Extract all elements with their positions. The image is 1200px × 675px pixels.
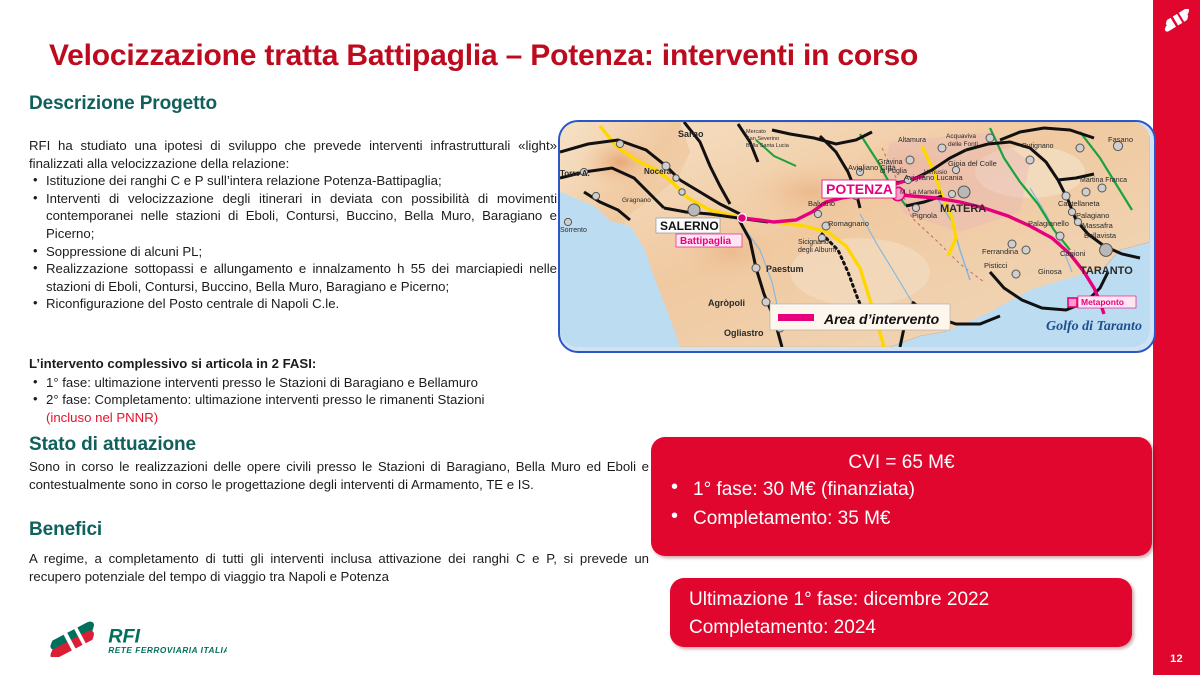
station-dot [592, 192, 599, 199]
legend-label: Area d’intervento [823, 311, 940, 327]
map-label: Martina Franca [1080, 177, 1127, 184]
descrizione-body: RFI ha studiato una ipotesi di sviluppo … [29, 137, 557, 313]
station-dot [906, 156, 914, 164]
svg-text:POTENZA: POTENZA [826, 181, 893, 197]
fasi-title: L’intervento complessivo si articola in … [29, 355, 569, 373]
stato-text: Sono in corso le realizzazioni delle ope… [29, 458, 649, 493]
station-battipaglia [738, 214, 747, 223]
map-layers: Sarno Mercato San Severino Bella Santa L… [560, 122, 1150, 347]
callout-dates: Ultimazione 1° fase: dicembre 2022 Compl… [670, 578, 1132, 647]
map-label: Massafra [1082, 221, 1114, 230]
map-label-battipaglia: Battipaglia [676, 234, 742, 247]
date-line-1: Ultimazione 1° fase: dicembre 2022 [670, 578, 1132, 614]
station-dot [1056, 232, 1064, 240]
descrizione-bullet-list: Istituzione dei ranghi C e P sull’intera… [29, 172, 557, 313]
stato-body: Sono in corso le realizzazioni delle ope… [29, 458, 649, 493]
map-label: Sarno [678, 129, 704, 139]
cvi-list: 1° fase: 30 M€ (finanziata) Completament… [651, 475, 1152, 533]
map-label: Palagiano [1076, 211, 1109, 220]
map-label: Bellavista [1084, 231, 1117, 240]
station-dot [688, 204, 700, 216]
svg-text:Metaponto: Metaponto [1081, 297, 1124, 307]
map-label: Gravina [878, 159, 903, 166]
callout-cvi: CVI = 65 M€ 1° fase: 30 M€ (finanziata) … [651, 437, 1152, 556]
station-dot [673, 175, 679, 181]
map-label: Pisticci [984, 261, 1008, 270]
map-label: Ferrandina [982, 247, 1019, 256]
map-label: Sorrento [560, 227, 587, 234]
map-label: Bella Santa Lucia [746, 143, 790, 149]
heading-descrizione-progetto: Descrizione Progetto [29, 93, 217, 115]
map-label: Ginosa [1038, 267, 1063, 276]
station-dot [752, 264, 760, 272]
map-svg: Sarno Mercato San Severino Bella Santa L… [560, 122, 1150, 347]
map-label: Ogliastro [724, 328, 764, 338]
map-label: Acquaviva [946, 133, 976, 140]
descrizione-intro: RFI ha studiato una ipotesi di sviluppo … [29, 137, 557, 172]
rfi-logo: RFI RETE FERROVIARIA ITALIANA [47, 617, 227, 657]
map-sea-label: Golfo di Taranto [1046, 319, 1142, 334]
map-label-potenza: POTENZA [822, 180, 896, 198]
map-label: M. La Martella [900, 189, 942, 196]
list-item: Interventi di velocizzazione degli itine… [29, 190, 557, 243]
map-label-metaponto: Metaponto [1078, 296, 1136, 308]
station-dot [762, 298, 770, 306]
station-dot [564, 218, 571, 225]
station-dot [986, 134, 994, 142]
legend-swatch [778, 314, 814, 321]
map-label: degli Alburni [798, 247, 837, 254]
slide-canvas: 12 Velocizzazione tratta Battipaglia – P… [0, 0, 1200, 675]
station-metaponto [1068, 298, 1077, 307]
map-legend: Area d’intervento [770, 304, 950, 330]
list-item: 2° fase: Completamento: ultimazione inte… [29, 391, 569, 426]
map-label: Cagioni [1060, 249, 1086, 258]
svg-text:SALERNO: SALERNO [660, 219, 719, 233]
map-label: Nocera [644, 167, 672, 176]
map-label: Torre A. [560, 169, 590, 178]
map-label: TARANTO [1080, 265, 1133, 277]
page-title: Velocizzazione tratta Battipaglia – Pote… [49, 39, 1049, 73]
map-label-salerno: SALERNO [656, 218, 720, 233]
map-label: Gioia del Colle [948, 159, 997, 168]
station-dot [1098, 184, 1106, 192]
map-label: Mercato [746, 129, 766, 135]
map-label: Putignano [1022, 143, 1054, 150]
station-dot [679, 189, 685, 195]
map-intervento: Sarno Mercato San Severino Bella Santa L… [558, 120, 1156, 353]
station-dot [1076, 144, 1084, 152]
map-label: Palagianello [1028, 219, 1069, 228]
fasi-bullet-2-text: 2° fase: Completamento: ultimazione inte… [46, 392, 484, 407]
fs-logo-icon [1162, 9, 1192, 35]
map-label: Sicignano [798, 239, 829, 246]
heading-benefici: Benefici [29, 519, 102, 541]
date-line-2: Completamento: 2024 [670, 614, 1132, 642]
map-label: Balvano [808, 199, 835, 208]
page-number: 12 [1153, 653, 1200, 665]
station-dot [814, 210, 821, 217]
station-dot [616, 140, 623, 147]
map-label: Venusio [924, 169, 948, 176]
fasi-body: L’intervento complessivo si articola in … [29, 355, 569, 426]
map-label: delle Fonti [948, 141, 978, 148]
benefici-body: A regime, a completamento di tutti gli i… [29, 550, 649, 585]
cvi-headline: CVI = 65 M€ [651, 437, 1152, 475]
station-dot [1012, 270, 1020, 278]
station-dot [1022, 246, 1030, 254]
map-label: di Puglia [880, 168, 907, 175]
map-label: Agròpoli [708, 298, 745, 308]
list-item: Soppressione di alcuni PL; [29, 243, 557, 261]
map-label: Paestum [766, 264, 804, 274]
list-item: 1° fase: ultimazione interventi presso l… [29, 374, 569, 392]
map-label: Altamura [898, 137, 926, 144]
list-item: Istituzione dei ranghi C e P sull’intera… [29, 172, 557, 190]
station-dot [1026, 156, 1034, 164]
brand-rail: 12 [1153, 0, 1200, 675]
station-matera [958, 186, 970, 198]
map-label: San Severino [746, 136, 779, 142]
map-label: Castellaneta [1058, 199, 1101, 208]
list-item: Realizzazione sottopassi e allungamento … [29, 260, 557, 295]
station-taranto [1100, 244, 1113, 257]
list-item: 1° fase: 30 M€ (finanziata) [661, 475, 1152, 504]
heading-stato-di-attuazione: Stato di attuazione [29, 434, 196, 456]
svg-text:Battipaglia: Battipaglia [680, 236, 732, 247]
rfi-subtitle: RETE FERROVIARIA ITALIANA [108, 646, 227, 655]
map-label: MATERA [940, 203, 986, 215]
map-label: Pignola [912, 211, 938, 220]
station-dot [948, 190, 955, 197]
station-dot [1082, 188, 1090, 196]
map-label: Romagnano [828, 219, 869, 228]
station-dot [938, 144, 946, 152]
map-label: Fasano [1108, 135, 1133, 144]
map-label: Gragnano [622, 197, 651, 204]
rfi-initials: RFI [108, 625, 140, 647]
station-dot [1068, 208, 1075, 215]
benefici-text: A regime, a completamento di tutti gli i… [29, 550, 649, 585]
list-item: Completamento: 35 M€ [661, 504, 1152, 533]
list-item: Riconfigurazione del Posto centrale di N… [29, 295, 557, 313]
pnnr-note: (incluso nel PNNR) [46, 410, 158, 425]
fasi-bullet-list: 1° fase: ultimazione interventi presso l… [29, 374, 569, 427]
